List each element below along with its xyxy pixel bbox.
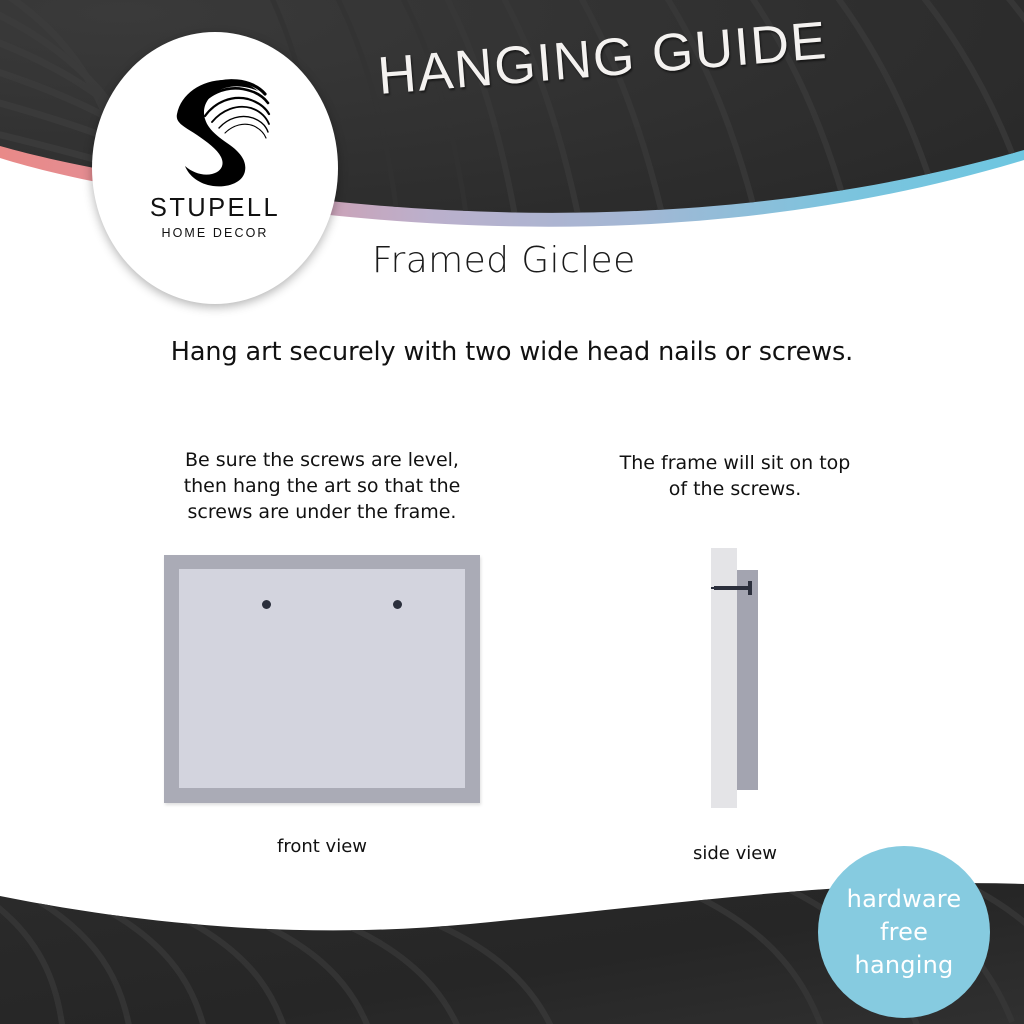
side-view-label: side view: [628, 843, 842, 864]
badge-line-3: hanging: [855, 949, 954, 982]
brand-logo-badge: STUPELL HOME DECOR: [92, 32, 338, 304]
logo-tagline: HOME DECOR: [161, 226, 268, 240]
nail-tip-icon: [711, 587, 717, 589]
front-view-caption: Be sure the screws are level, then hang …: [146, 447, 498, 525]
screw-dot-right: [393, 600, 402, 609]
side-view-caption-line-1: The frame will sit on top: [600, 450, 870, 476]
side-view-caption: The frame will sit on top of the screws.: [600, 450, 870, 502]
product-type-label: Framed Giclee: [372, 240, 636, 281]
stupell-swoosh-icon: [155, 70, 275, 188]
hanging-guide-page: STUPELL HOME DECOR HANGING GUIDE Framed …: [0, 0, 1024, 1024]
nail-shaft-icon: [714, 586, 752, 590]
screw-dot-left: [262, 600, 271, 609]
side-view-caption-line-2: of the screws.: [600, 476, 870, 502]
main-instruction-text: Hang art securely with two wide head nai…: [0, 337, 1024, 367]
front-view-frame-diagram: [164, 555, 480, 803]
logo-wordmark: STUPELL: [150, 194, 280, 223]
side-view-frame: [737, 570, 758, 790]
badge-line-2: free: [880, 916, 928, 949]
front-view-caption-line-2: then hang the art so that the: [146, 473, 498, 499]
front-view-mat: [179, 569, 465, 788]
front-view-caption-line-1: Be sure the screws are level,: [146, 447, 498, 473]
nail-head-icon: [748, 581, 752, 595]
page-title: HANGING GUIDE: [376, 6, 879, 107]
hardware-free-hanging-badge: hardware free hanging: [818, 846, 990, 1018]
front-view-label: front view: [164, 836, 480, 857]
front-view-caption-line-3: screws are under the frame.: [146, 499, 498, 525]
badge-line-1: hardware: [847, 883, 962, 916]
